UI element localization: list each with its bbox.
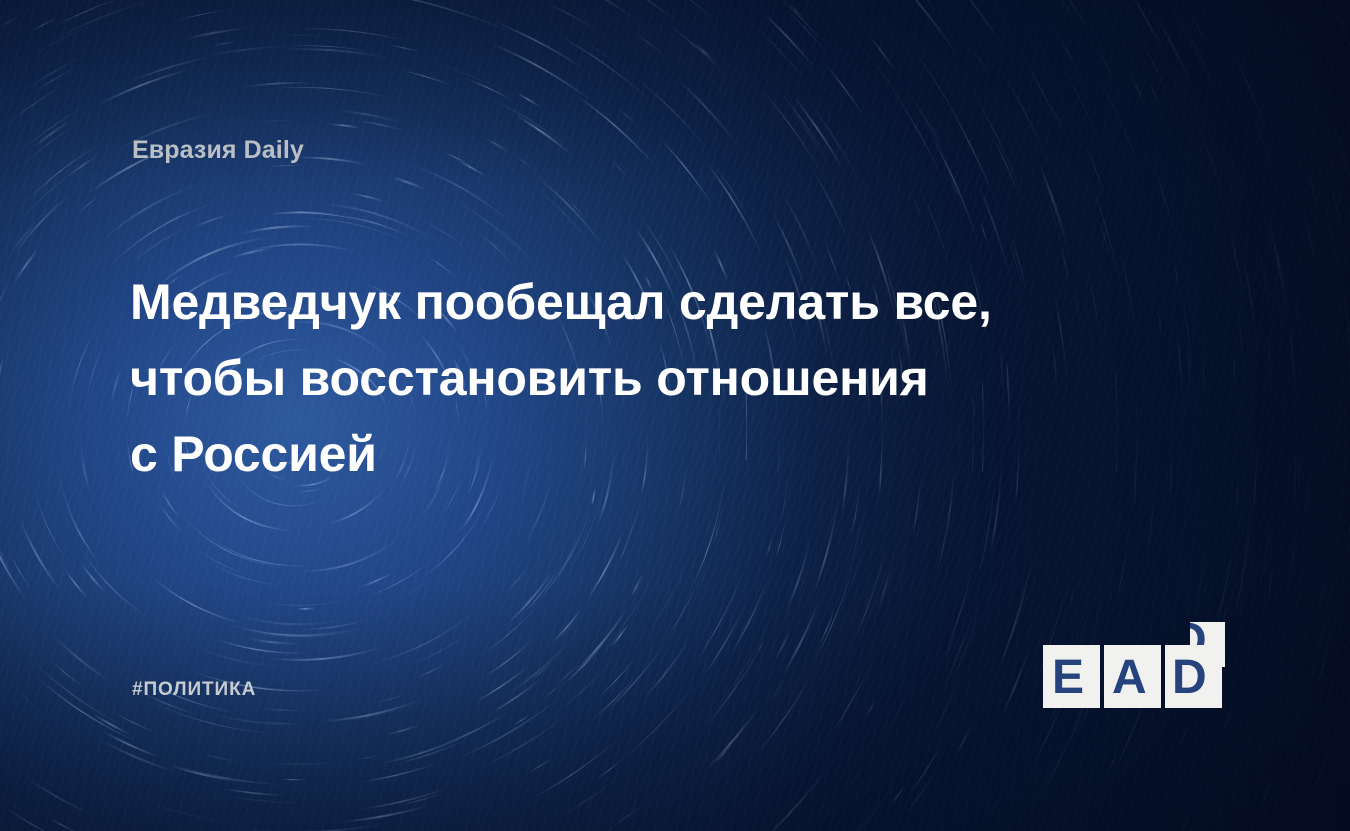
headline-line-1: Медведчук пообещал сделать все, <box>130 264 1110 340</box>
logo-tile-d: D <box>1165 645 1222 708</box>
eadaily-logo[interactable]: D E A D <box>1043 622 1225 708</box>
card-content: Евразия Daily Медведчук пообещал сделать… <box>0 0 1350 831</box>
logo-letter-d: D <box>1172 654 1207 702</box>
brand-name: Евразия Daily <box>132 136 304 165</box>
headline-line-3: с Россией <box>130 416 1110 492</box>
logo-letter-e: E <box>1052 654 1084 702</box>
logo-tile-e: E <box>1043 645 1100 708</box>
news-card: Евразия Daily Медведчук пообещал сделать… <box>0 0 1350 831</box>
headline-line-2: чтобы восстановить отношения <box>130 340 1110 416</box>
logo-tile-a: A <box>1104 645 1161 708</box>
headline: Медведчук пообещал сделать все, чтобы во… <box>130 264 1110 492</box>
logo-letter-a: A <box>1112 654 1147 702</box>
hashtag-politics[interactable]: #ПОЛИТИКА <box>132 679 256 701</box>
